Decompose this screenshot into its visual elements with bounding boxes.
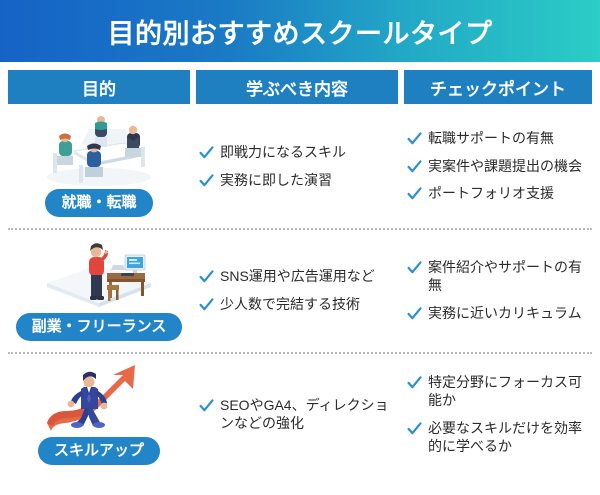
learn-list: SNS運用や広告運用など 少人数で完結する技術 — [190, 267, 398, 313]
list-item-label: 実務に即した演習 — [220, 171, 332, 189]
category-cell: 副業・フリーランス — [8, 239, 190, 342]
table-row: 副業・フリーランス SNS運用や広告運用など 少人数で完結する技術 案件紹介やサ… — [8, 228, 592, 352]
check-icon — [198, 268, 215, 285]
list-item-label: 即戦力になるスキル — [220, 143, 346, 161]
list-item-label: 転職サポートの有無 — [428, 129, 554, 147]
check-icon — [406, 185, 423, 202]
list-item: ポートフォリオ支援 — [406, 184, 588, 202]
checkpoint-list: 転職サポートの有無 実案件や課題提出の機会 ポートフォリオ支援 — [398, 129, 592, 202]
learn-list: 即戦力になるスキル 実務に即した演習 — [190, 143, 398, 189]
check-icon — [198, 397, 215, 414]
column-header-purpose: 目的 — [8, 70, 190, 104]
check-icon — [198, 144, 215, 161]
list-item-label: SNS運用や広告運用など — [220, 267, 375, 285]
category-badge: 副業・フリーランス — [16, 313, 183, 342]
page-title: 目的別おすすめスクールタイプ — [108, 12, 493, 51]
check-icon — [406, 305, 423, 322]
category-badge: 就職・転職 — [45, 189, 152, 218]
check-icon — [406, 158, 423, 175]
list-item: 案件紹介やサポートの有無 — [406, 258, 588, 295]
check-icon — [406, 420, 423, 437]
check-icon — [406, 374, 423, 391]
list-item-label: 必要なスキルだけを効率的に学べるか — [428, 419, 588, 456]
column-header-checkpoint: チェックポイント — [404, 70, 592, 104]
list-item: 少人数で完結する技術 — [198, 295, 394, 313]
check-icon — [406, 130, 423, 147]
list-item: 転職サポートの有無 — [406, 129, 588, 147]
category-cell: 就職・転職 — [8, 115, 190, 218]
check-icon — [406, 259, 423, 276]
list-item: 必要なスキルだけを効率的に学べるか — [406, 419, 588, 456]
learn-list: SEOやGA4、ディレクションなどの強化 — [190, 396, 398, 433]
list-item: 実務に近いカリキュラム — [406, 304, 588, 322]
check-icon — [198, 172, 215, 189]
list-item: 特定分野にフォーカス可能か — [406, 373, 588, 410]
column-header-content: 学ぶべき内容 — [196, 70, 398, 104]
desk-worker-illustration — [29, 239, 169, 311]
table-row: スキルアップ SEOやGA4、ディレクションなどの強化 特定分野にフォーカス可能… — [8, 352, 592, 476]
list-item-label: 実案件や課題提出の機会 — [428, 157, 582, 175]
list-item: SEOやGA4、ディレクションなどの強化 — [198, 396, 394, 433]
list-item-label: 案件紹介やサポートの有無 — [428, 258, 588, 295]
category-badge: スキルアップ — [38, 437, 160, 466]
checkpoint-list: 案件紹介やサポートの有無 実務に近いカリキュラム — [398, 258, 592, 322]
list-item-label: SEOやGA4、ディレクションなどの強化 — [220, 396, 394, 433]
meeting-interview-illustration — [29, 115, 169, 187]
table-body: 就職・転職 即戦力になるスキル 実務に即した演習 転職サポートの有無 — [0, 104, 600, 476]
category-cell: スキルアップ — [8, 363, 190, 466]
column-header-row: 目的 学ぶべき内容 チェックポイント — [8, 70, 592, 104]
table-row: 就職・転職 即戦力になるスキル 実務に即した演習 転職サポートの有無 — [8, 104, 592, 228]
list-item-label: 実務に近いカリキュラム — [428, 304, 582, 322]
check-icon — [198, 296, 215, 313]
list-item: 実務に即した演習 — [198, 171, 394, 189]
infographic-table: 目的別おすすめスクールタイプ 目的 学ぶべき内容 チェックポイント — [0, 0, 600, 495]
title-banner: 目的別おすすめスクールタイプ — [0, 0, 600, 62]
list-item-label: ポートフォリオ支援 — [428, 184, 554, 202]
growth-arrow-illustration — [29, 363, 169, 435]
list-item: SNS運用や広告運用など — [198, 267, 394, 285]
list-item: 即戦力になるスキル — [198, 143, 394, 161]
list-item-label: 少人数で完結する技術 — [220, 295, 360, 313]
checkpoint-list: 特定分野にフォーカス可能か 必要なスキルだけを効率的に学べるか — [398, 373, 592, 456]
list-item: 実案件や課題提出の機会 — [406, 157, 588, 175]
list-item-label: 特定分野にフォーカス可能か — [428, 373, 588, 410]
